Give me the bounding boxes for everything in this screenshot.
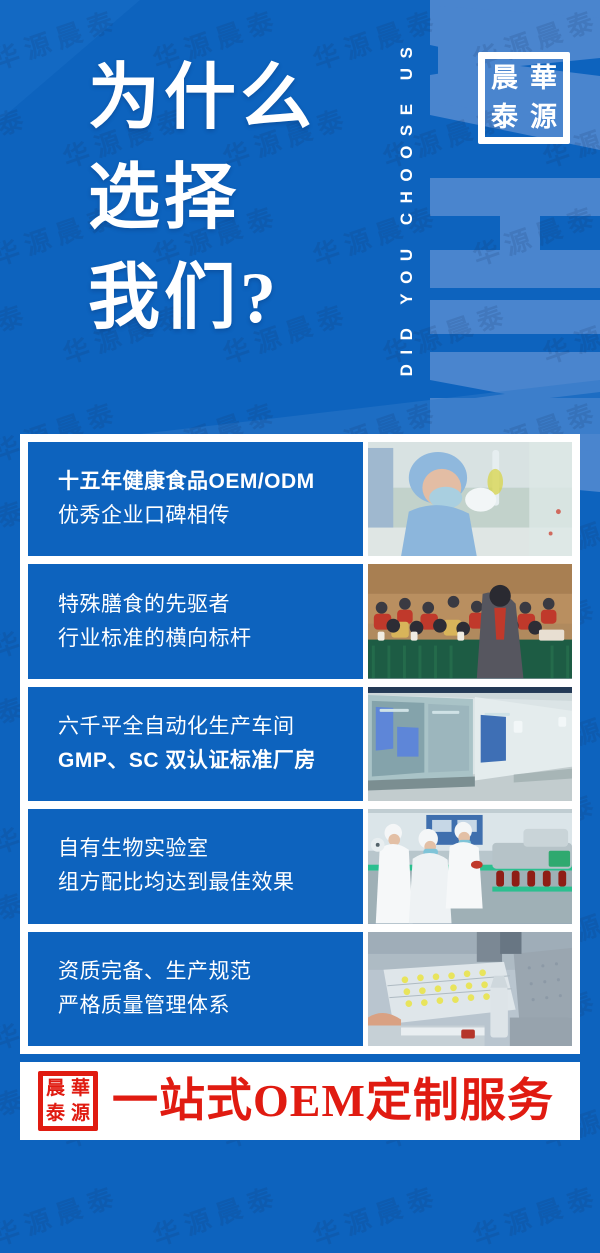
blister-packaging-photo — [368, 932, 572, 1046]
feature-card-line: 六千平全自动化生产车间 — [58, 710, 363, 744]
cleanroom-corridor-photo — [368, 687, 572, 801]
banner-seal-char-2: 晨 — [43, 1076, 68, 1101]
feature-card-line: GMP、SC 双认证标准厂房 — [58, 744, 363, 778]
bottom-cta-banner[interactable]: 華 晨 源 泰 一站式OEM定制服务 — [20, 1062, 580, 1140]
watermark-text: 华源晨泰 — [0, 1176, 124, 1253]
feature-card-line: 严格质量管理体系 — [58, 989, 363, 1023]
seal-char-4: 泰 — [485, 98, 524, 137]
huayuan-chentai-seal-red-icon: 華 晨 源 泰 — [38, 1071, 98, 1131]
feature-card-line: 十五年健康食品OEM/ODM — [58, 465, 363, 499]
page-headline: 为什么 选择 我们? — [88, 48, 316, 348]
feature-card-line: 资质完备、生产规范 — [58, 955, 363, 989]
production-line-workers-photo — [368, 809, 572, 923]
feature-card-line: 行业标准的横向标杆 — [58, 622, 363, 656]
watermark-text: 华源晨泰 — [468, 1176, 600, 1253]
feature-card-list: 十五年健康食品OEM/ODM优秀企业口碑相传 特殊膳食的先驱者行业标准的横向标杆 — [28, 442, 572, 1046]
feature-card: 自有生物实验室组方配比均达到最佳效果 — [28, 809, 572, 923]
banner-seal-char-4: 泰 — [43, 1101, 68, 1126]
feature-card-text: 自有生物实验室组方配比均达到最佳效果 — [28, 809, 363, 923]
seal-char-3: 源 — [524, 98, 563, 137]
watermark-text: 华源晨泰 — [308, 1176, 445, 1253]
feature-card-frame: 十五年健康食品OEM/ODM优秀企业口碑相传 特殊膳食的先驱者行业标准的横向标杆 — [20, 434, 580, 1054]
headline-line-2: 选择 — [88, 148, 316, 248]
feature-card-line: 自有生物实验室 — [58, 832, 363, 866]
seal-char-1: 華 — [524, 59, 563, 98]
feature-card-text: 资质完备、生产规范严格质量管理体系 — [28, 932, 363, 1046]
feature-card-text: 十五年健康食品OEM/ODM优秀企业口碑相传 — [28, 442, 363, 556]
watermark-text: 华源晨泰 — [148, 1176, 285, 1253]
feature-card: 十五年健康食品OEM/ODM优秀企业口碑相传 — [28, 442, 572, 556]
feature-card-line: 特殊膳食的先驱者 — [58, 588, 363, 622]
feature-card: 资质完备、生产规范严格质量管理体系 — [28, 932, 572, 1046]
bottom-cta-text: 一站式OEM定制服务 — [112, 1078, 554, 1124]
hero-section: 为什么 选择 我们? DID YOU CHOOSE US 華 晨 源 泰 — [0, 0, 600, 434]
feature-card-line: 优秀企业口碑相传 — [58, 499, 363, 533]
banner-seal-char-1: 華 — [68, 1076, 93, 1101]
vertical-tagline-text: DID YOU CHOOSE US — [397, 38, 417, 377]
huayuan-chentai-seal-icon: 華 晨 源 泰 — [478, 52, 570, 144]
vertical-tagline: DID YOU CHOOSE US — [392, 12, 422, 402]
seal-char-2: 晨 — [485, 59, 524, 98]
headline-line-1: 为什么 — [88, 48, 316, 148]
feature-card: 六千平全自动化生产车间GMP、SC 双认证标准厂房 — [28, 687, 572, 801]
feature-card-text: 六千平全自动化生产车间GMP、SC 双认证标准厂房 — [28, 687, 363, 801]
lab-technician-photo — [368, 442, 572, 556]
banner-seal-char-3: 源 — [68, 1101, 93, 1126]
conference-audience-photo — [368, 564, 572, 678]
feature-card-text: 特殊膳食的先驱者行业标准的横向标杆 — [28, 564, 363, 678]
headline-line-3: 我们? — [88, 248, 316, 348]
feature-card: 特殊膳食的先驱者行业标准的横向标杆 — [28, 564, 572, 678]
feature-card-line: 组方配比均达到最佳效果 — [58, 866, 363, 900]
